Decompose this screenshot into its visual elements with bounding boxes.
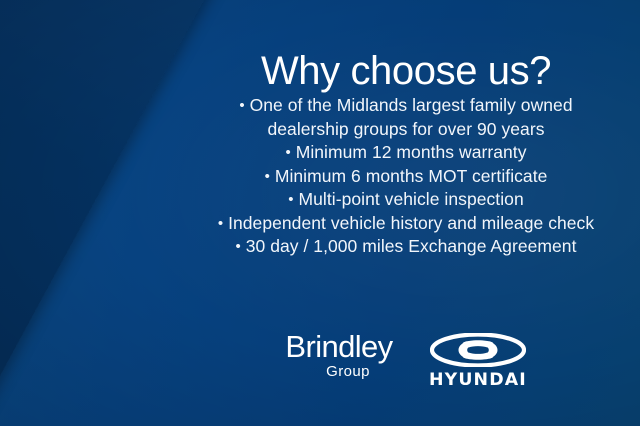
bullet-icon: • (265, 168, 270, 185)
list-item: • Minimum 12 months warranty (206, 141, 606, 165)
hyundai-wordmark: HYUNDAI (429, 371, 527, 390)
content-column: Why choose us? • One of the Midlands lar… (206, 0, 606, 426)
hyundai-h-oval-icon (430, 333, 526, 367)
bullet-icon: • (235, 238, 240, 255)
page-title: Why choose us? (206, 47, 606, 95)
list-item: • 30 day / 1,000 miles Exchange Agreemen… (206, 235, 606, 259)
bullet-icon: • (239, 97, 244, 114)
logo-strip: Brindley Group HYUNDAI (206, 330, 606, 400)
list-item-label: Multi-point vehicle inspection (299, 189, 524, 209)
bullet-icon: • (285, 144, 290, 161)
hyundai-logo: HYUNDAI (422, 330, 534, 395)
brindley-group-logo: Brindley Group (278, 330, 400, 392)
list-item-label: Minimum 6 months MOT certificate (275, 166, 548, 186)
list-item-label: One of the Midlands largest family owned… (250, 95, 573, 139)
brindley-wordmark: Brindley (278, 330, 400, 364)
promotional-banner: Why choose us? • One of the Midlands lar… (0, 0, 640, 426)
list-item: • Independent vehicle history and mileag… (206, 212, 606, 236)
list-item-label: 30 day / 1,000 miles Exchange Agreement (246, 236, 577, 256)
list-item: • One of the Midlands largest family own… (206, 94, 606, 141)
list-item-label: Minimum 12 months warranty (296, 142, 527, 162)
benefits-list: • One of the Midlands largest family own… (206, 94, 606, 259)
bullet-icon: • (288, 191, 293, 208)
brindley-sub-label: Group (278, 363, 400, 380)
list-item-label: Independent vehicle history and mileage … (228, 213, 594, 233)
bullet-icon: • (218, 215, 223, 232)
list-item: • Minimum 6 months MOT certificate (206, 165, 606, 189)
list-item: • Multi-point vehicle inspection (206, 188, 606, 212)
